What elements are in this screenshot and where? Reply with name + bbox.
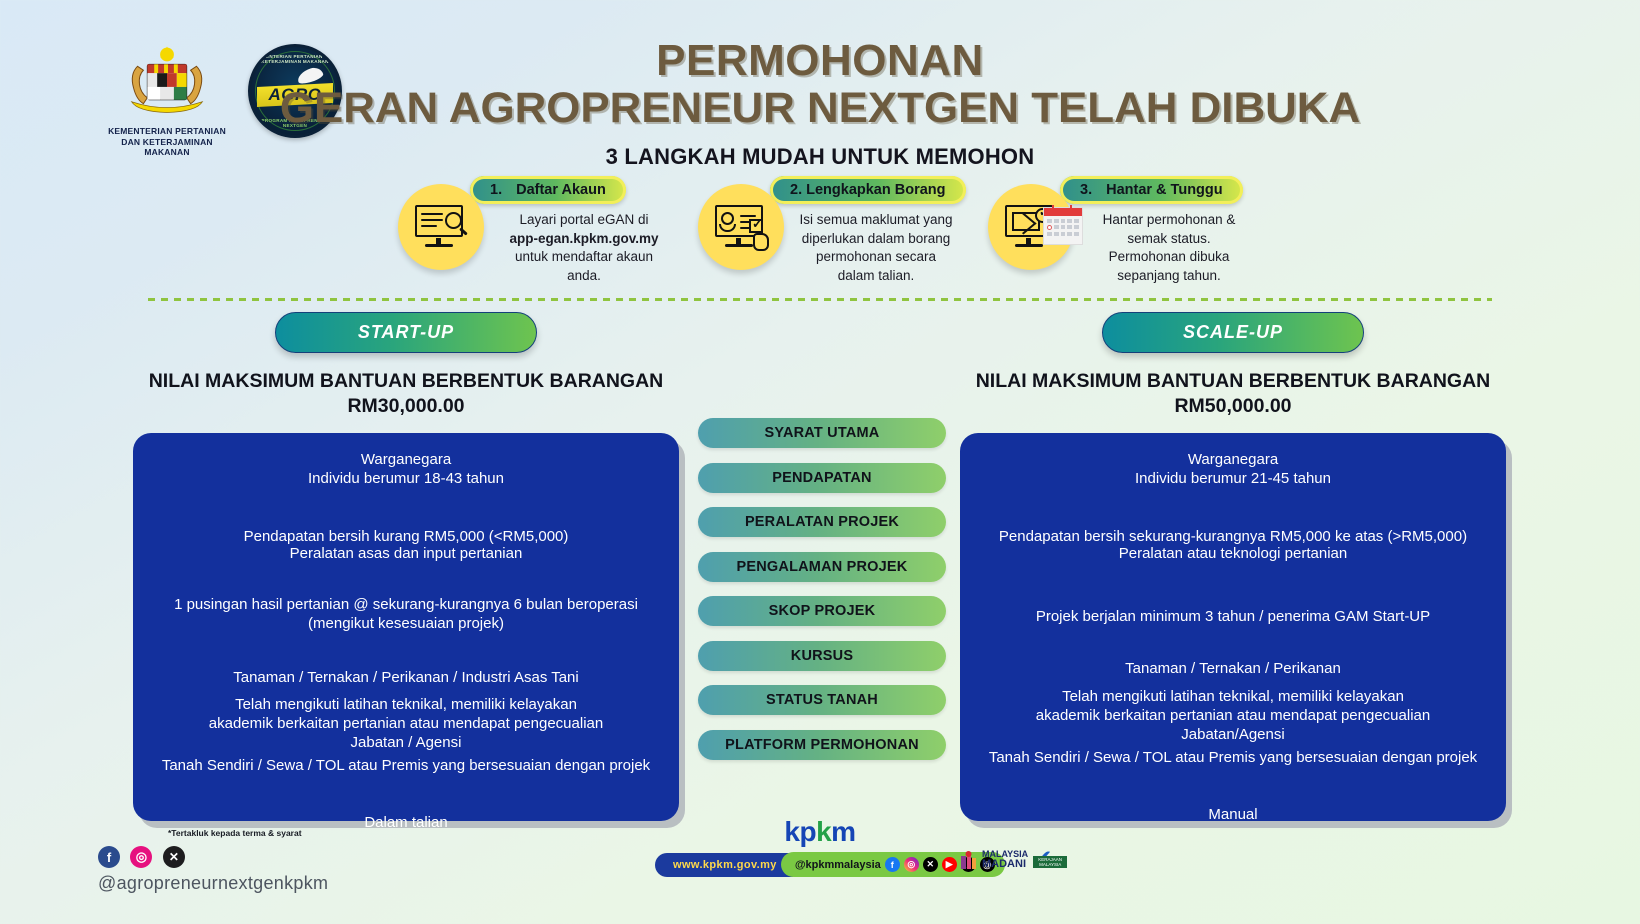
step-2-desc-line2: diperlukan dalam borang — [802, 231, 951, 246]
step-2-desc-line3: permohonan secara — [816, 249, 936, 264]
social-links-group: f ◎ ✕ @agropreneurnextgenkpkm — [98, 846, 328, 894]
step-1-number: 1. — [490, 182, 502, 198]
instagram-mini-icon[interactable]: ◎ — [904, 857, 919, 872]
footer-contact-bar: www.kpkm.gov.my @kpkmmalaysia f ◎ ✕ ▶ ♪ … — [655, 852, 1005, 877]
scaleup-row-7: Tanah Sendiri / Sewa / TOL atau Premis y… — [966, 749, 1500, 793]
scaleup-tier-badge[interactable]: SCALE-UP — [1102, 312, 1364, 353]
step-3-desc-line4: sepanjang tahun. — [1117, 268, 1221, 283]
scaleup-max-label: NILAI MAKSIMUM BANTUAN BERBENTUK BARANGA… — [976, 370, 1491, 392]
step-3-description: Hantar permohonan & semak status. Permoh… — [1060, 211, 1278, 286]
calendar-icon — [1043, 207, 1083, 245]
social-icons-row: f ◎ ✕ — [98, 846, 328, 868]
startup-row-4: 1 pusingan hasil pertanian @ sekurang-ku… — [139, 585, 673, 645]
step-3: 3.Hantar & Tunggu Hantar permohonan & se… — [988, 172, 1288, 286]
startup-criteria-panel: WarganegaraIndividu berumur 18-43 tahun … — [133, 433, 679, 821]
scaleup-criteria-panel: WarganegaraIndividu berumur 21-45 tahun … — [960, 433, 1506, 821]
scaleup-column: SCALE-UP NILAI MAKSIMUM BANTUAN BERBENTU… — [960, 312, 1506, 821]
scaleup-row-3: Peralatan atau teknologi pertanian — [966, 545, 1500, 587]
step-2-description: Isi semua maklumat yang diperlukan dalam… — [770, 211, 982, 286]
step-2-desc-line1: Isi semua maklumat yang — [799, 212, 952, 227]
scaleup-row-6: Telah mengikuti latihan teknikal, memili… — [966, 685, 1500, 749]
startup-row-5: Tanaman / Ternakan / Perikanan / Industr… — [139, 645, 673, 693]
scaleup-row-4: Projek berjalan minimum 3 tahun / peneri… — [966, 587, 1500, 633]
government-tick-badge-icon: KERAJAAN MALAYSIA — [1033, 848, 1063, 872]
step-2-icon-circle — [698, 184, 784, 270]
startup-column: START-UP NILAI MAKSIMUM BANTUAN BERBENTU… — [133, 312, 679, 821]
step-3-title: Hantar & Tunggu — [1106, 182, 1223, 198]
step-3-number: 3. — [1080, 182, 1092, 198]
step-1-desc-line3: anda. — [567, 268, 601, 283]
facebook-mini-icon[interactable]: f — [885, 857, 900, 872]
category-platform-permohonan[interactable]: PLATFORM PERMOHONAN — [698, 730, 946, 760]
startup-header: START-UP NILAI MAKSIMUM BANTUAN BERBENTU… — [133, 312, 679, 419]
category-kursus[interactable]: KURSUS — [698, 641, 946, 671]
step-2-desc-line4: dalam talian. — [838, 268, 915, 283]
kpkm-social-handle: @kpkmmalaysia — [795, 859, 881, 871]
step-2-title-pill[interactable]: 2. Lengkapkan Borang — [770, 176, 966, 204]
step-3-desc-line1: Hantar permohonan & — [1103, 212, 1236, 227]
email-calendar-icon — [1005, 205, 1057, 249]
scaleup-max-amount: RM50,000.00 — [1174, 395, 1291, 417]
step-1-desc-line1: Layari portal eGAN di — [519, 212, 648, 227]
social-handle-text: @agropreneurnextgenkpkm — [98, 873, 328, 894]
startup-row-3: Peralatan asas dan input pertanian — [139, 545, 673, 585]
madani-wordmark: MALAYSIA MADANI — [982, 850, 1028, 871]
page-title-line1: PERMOHONAN — [0, 38, 1640, 84]
youtube-mini-icon[interactable]: ▶ — [942, 857, 957, 872]
category-status-tanah[interactable]: STATUS TANAH — [698, 685, 946, 715]
step-2: 2. Lengkapkan Borang Isi semua maklumat … — [698, 172, 988, 286]
scaleup-row-5: Tanaman / Ternakan / Perikanan — [966, 633, 1500, 685]
scaleup-row-2: Pendapatan bersih sekurang-kurangnya RM5… — [966, 493, 1500, 545]
category-pengalaman-projek[interactable]: PENGALAMAN PROJEK — [698, 552, 946, 582]
x-twitter-icon[interactable]: ✕ — [163, 846, 185, 868]
step-3-desc-line3: Permohonan dibuka — [1109, 249, 1230, 264]
category-labels-column: SYARAT UTAMA PENDAPATAN PERALATAN PROJEK… — [698, 418, 946, 774]
category-peralatan-projek[interactable]: PERALATAN PROJEK — [698, 507, 946, 537]
step-1-title: Daftar Akaun — [516, 182, 606, 198]
scaleup-header: SCALE-UP NILAI MAKSIMUM BANTUAN BERBENTU… — [960, 312, 1506, 419]
kpkm-logo: kpkm — [0, 816, 1640, 848]
startup-max-amount: RM30,000.00 — [347, 395, 464, 417]
startup-tier-badge[interactable]: START-UP — [275, 312, 537, 353]
monitor-search-icon — [415, 205, 467, 249]
page-title-line2: GERAN AGROPRENEUR NEXTGEN TELAH DIBUKA — [0, 84, 1640, 132]
kpkm-wordmark: kpkm — [784, 816, 855, 848]
step-3-title-pill[interactable]: 3.Hantar & Tunggu — [1060, 176, 1243, 204]
madani-emblem-icon — [960, 850, 977, 870]
category-syarat-utama[interactable]: SYARAT UTAMA — [698, 418, 946, 448]
step-1-icon-circle — [398, 184, 484, 270]
facebook-icon[interactable]: f — [98, 846, 120, 868]
startup-max-value: NILAI MAKSIMUM BANTUAN BERBENTUK BARANGA… — [133, 369, 679, 419]
step-2-title: Lengkapkan Borang — [806, 182, 945, 198]
section-divider — [148, 298, 1492, 301]
startup-max-label: NILAI MAKSIMUM BANTUAN BERBENTUK BARANGA… — [149, 370, 664, 392]
startup-row-1: WarganegaraIndividu berumur 18-43 tahun — [139, 447, 673, 493]
steps-section: 1.Daftar Akaun Layari portal eGAN di app… — [398, 172, 1288, 286]
startup-row-2: Pendapatan bersih kurang RM5,000 (<RM5,0… — [139, 493, 673, 545]
category-pendapatan[interactable]: PENDAPATAN — [698, 463, 946, 493]
scaleup-row-1: WarganegaraIndividu berumur 21-45 tahun — [966, 447, 1500, 493]
step-1-description: Layari portal eGAN di app-egan.kpkm.gov.… — [470, 211, 698, 286]
x-twitter-mini-icon[interactable]: ✕ — [923, 857, 938, 872]
page-subtitle: 3 LANGKAH MUDAH UNTUK MEMOHON — [0, 144, 1640, 170]
kpkm-text-m: m — [831, 816, 855, 847]
malaysia-madani-group: MALAYSIA MADANI KERAJAAN MALAYSIA — [960, 848, 1063, 872]
kpkm-text-kp: kp — [784, 816, 816, 847]
instagram-icon[interactable]: ◎ — [130, 846, 152, 868]
step-1-title-pill[interactable]: 1.Daftar Akaun — [470, 176, 626, 204]
step-2-number: 2. — [790, 182, 802, 198]
step-3-icon-circle — [988, 184, 1074, 270]
tick-badge-label: KERAJAAN MALAYSIA — [1033, 856, 1067, 868]
website-link[interactable]: www.kpkm.gov.my — [655, 853, 793, 877]
category-skop-projek[interactable]: SKOP PROJEK — [698, 596, 946, 626]
scaleup-max-value: NILAI MAKSIMUM BANTUAN BERBENTUK BARANGA… — [960, 369, 1506, 419]
step-1: 1.Daftar Akaun Layari portal eGAN di app… — [398, 172, 698, 286]
form-click-icon — [715, 205, 767, 249]
page-header: PERMOHONAN GERAN AGROPRENEUR NEXTGEN TEL… — [0, 38, 1640, 170]
kpkm-text-k: k — [816, 816, 831, 847]
madani-line2: MADANI — [982, 859, 1028, 871]
step-3-desc-line2: semak status. — [1127, 231, 1210, 246]
step-1-portal-url: app-egan.kpkm.gov.my — [509, 231, 658, 246]
startup-row-6: Telah mengikuti latihan teknikal, memili… — [139, 693, 673, 757]
step-1-desc-line2: untuk mendaftar akaun — [515, 249, 653, 264]
startup-row-7: Tanah Sendiri / Sewa / TOL atau Premis y… — [139, 757, 673, 801]
